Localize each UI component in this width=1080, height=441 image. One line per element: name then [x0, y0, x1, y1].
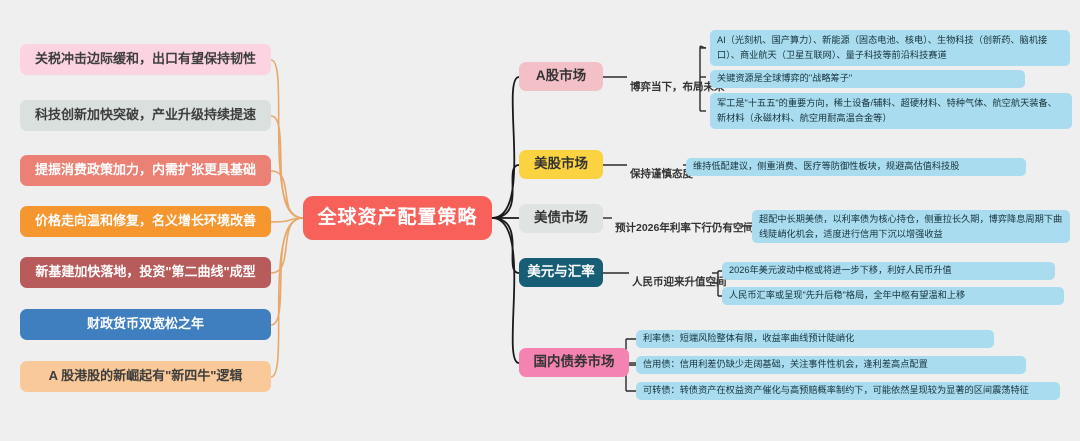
detail-a-shares-2[interactable]: 关键资源是全球博弈的"战略筹子"	[710, 70, 1025, 88]
summary-us-stock: 保持谨慎态度	[630, 166, 693, 181]
right-branch-a-shares-label: A股市场	[536, 68, 586, 85]
left-branch-2-label: 提振消费政策加力，内需扩张更具基础	[35, 162, 256, 178]
detail-us-stock-1[interactable]: 维持低配建议，侧重消费、医疗等防御性板块，规避高估值科技股	[686, 158, 1026, 176]
left-connectors	[271, 60, 303, 377]
detail-cn-bond-1[interactable]: 利率债：短端风险整体有限，收益率曲线预计陡峭化	[636, 330, 994, 348]
detail-usd-fx-2[interactable]: 人民币汇率或呈现"先升后稳"格局，全年中枢有望温和上移	[722, 287, 1064, 305]
left-branch-5-label: 财政货币双宽松之年	[87, 316, 204, 332]
right-branch-us-bond-label: 美债市场	[534, 210, 588, 227]
detail-usd-fx-1[interactable]: 2026年美元波动中枢或将进一步下移，利好人民币升值	[722, 262, 1055, 280]
left-branch-4-label: 新基建加快落地，投资"第二曲线"成型	[35, 264, 255, 280]
summary-us-bond: 预计2026年利率下行仍有空间	[615, 220, 754, 235]
right-branch-us-stock[interactable]: 美股市场	[519, 150, 603, 179]
left-branch-4[interactable]: 新基建加快落地，投资"第二曲线"成型	[20, 257, 271, 288]
center-node[interactable]: 全球资产配置策略	[303, 196, 492, 240]
left-branch-6-label: A 股港股的新崛起有"新四牛"逻辑	[49, 368, 243, 384]
detail-a-shares-1[interactable]: AI（光刻机、国产算力）、新能源（固态电池、核电）、生物科技（创新药、脑机接口）…	[710, 30, 1070, 66]
right-branch-a-shares[interactable]: A股市场	[519, 62, 603, 91]
detail-us-bond-1[interactable]: 超配中长期美债，以利率债为核心持仓，侧重拉长久期，博弈降息周期下曲线陡峭化机会，…	[752, 210, 1070, 243]
left-branch-3-label: 价格走向温和修复，名义增长环境改善	[35, 213, 256, 229]
right-branch-us-stock-label: 美股市场	[534, 156, 588, 173]
right-branch-cn-bond[interactable]: 国内债券市场	[519, 348, 629, 377]
detail-a-shares-3[interactable]: 军工是"十五五"的重要方向，稀土设备/辅料、超硬材料、特种气体、航空航天装备、新…	[710, 93, 1072, 129]
center-node-label: 全球资产配置策略	[317, 206, 477, 230]
left-branch-2[interactable]: 提振消费政策加力，内需扩张更具基础	[20, 155, 271, 186]
right-branch-usd-fx[interactable]: 美元与汇率	[519, 258, 603, 287]
right-branch-us-bond[interactable]: 美债市场	[519, 204, 603, 233]
right-branch-usd-fx-label: 美元与汇率	[527, 264, 595, 281]
right-connectors	[492, 77, 519, 363]
detail-cn-bond-3[interactable]: 可转债：转债资产在权益资产催化与高预赔概率制约下，可能依然呈现较为显著的区间震荡…	[636, 382, 1060, 400]
mindmap-canvas: 全球资产配置策略 关税冲击边际缓和，出口有望保持韧性 科技创新加快突破，产业升级…	[0, 0, 1080, 441]
right-branch-cn-bond-label: 国内债券市场	[534, 354, 615, 371]
left-branch-1[interactable]: 科技创新加快突破，产业升级持续提速	[20, 100, 271, 131]
left-branch-1-label: 科技创新加快突破，产业升级持续提速	[35, 107, 256, 123]
left-branch-3[interactable]: 价格走向温和修复，名义增长环境改善	[20, 206, 271, 237]
summary-usd-fx: 人民币迎来升值空间	[632, 274, 727, 289]
left-branch-0[interactable]: 关税冲击边际缓和，出口有望保持韧性	[20, 44, 271, 75]
detail-cn-bond-2[interactable]: 信用债：信用利差仍缺少走阔基础，关注事件性机会，逢利差高点配置	[636, 356, 1026, 374]
left-branch-0-label: 关税冲击边际缓和，出口有望保持韧性	[35, 51, 256, 67]
left-branch-6[interactable]: A 股港股的新崛起有"新四牛"逻辑	[20, 361, 271, 392]
left-branch-5[interactable]: 财政货币双宽松之年	[20, 309, 271, 340]
